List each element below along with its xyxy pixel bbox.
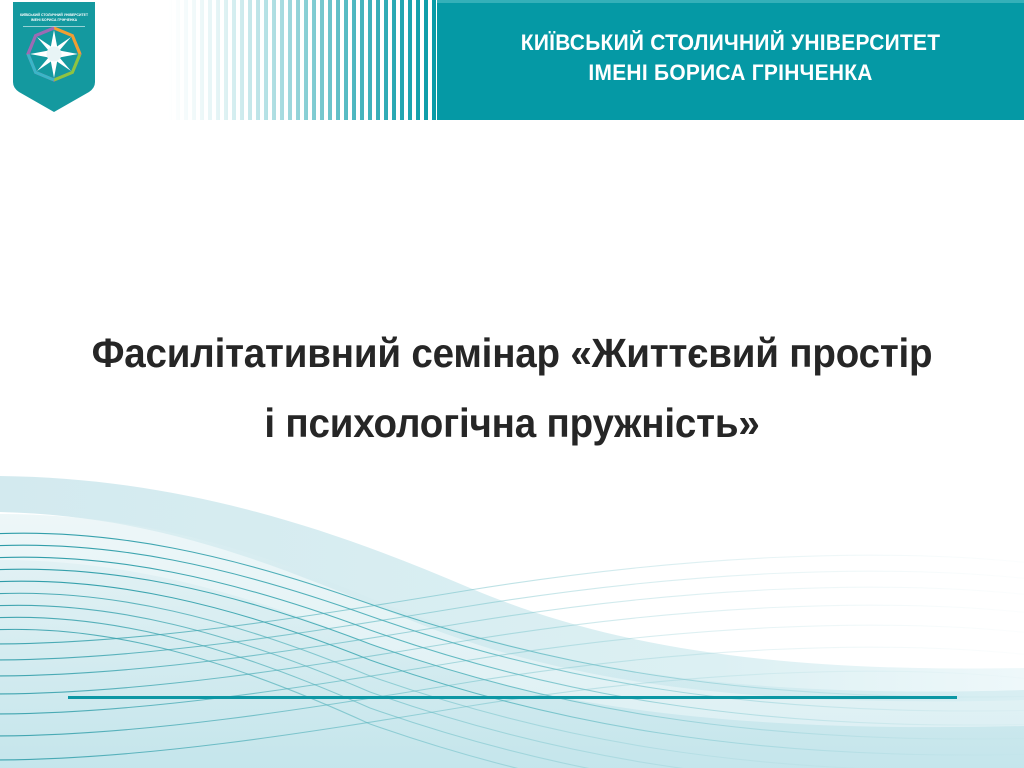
logo-caption-text: КИЇВСЬКИЙ СТОЛИЧНИЙ УНІВЕРСИТЕТ ІМЕНІ БО… xyxy=(16,13,92,22)
slide-canvas: КИЇВСЬКИЙ СТОЛИЧНИЙ УНІВЕРСИТЕТ ІМЕНІ БО… xyxy=(0,0,1024,768)
logo-divider xyxy=(23,26,85,27)
vertical-stripes-icon xyxy=(168,0,438,120)
university-banner: КИЇВСЬКИЙ СТОЛИЧНИЙ УНІВЕРСИТЕТ ІМЕНІ БО… xyxy=(437,0,1024,120)
slide-header: КИЇВСЬКИЙ СТОЛИЧНИЙ УНІВЕРСИТЕТ ІМЕНІ БО… xyxy=(0,0,1024,122)
slide-title: Фасилітативний семінар «Життєвий простір… xyxy=(89,318,935,458)
university-shield-logo-icon: КИЇВСЬКИЙ СТОЛИЧНИЙ УНІВЕРСИТЕТ ІМЕНІ БО… xyxy=(13,2,95,112)
wave-decoration xyxy=(0,468,1024,768)
horizontal-rule-icon xyxy=(68,696,957,699)
university-name-text: КИЇВСЬКИЙ СТОЛИЧНИЙ УНІВЕРСИТЕТ ІМЕНІ БО… xyxy=(521,28,941,92)
